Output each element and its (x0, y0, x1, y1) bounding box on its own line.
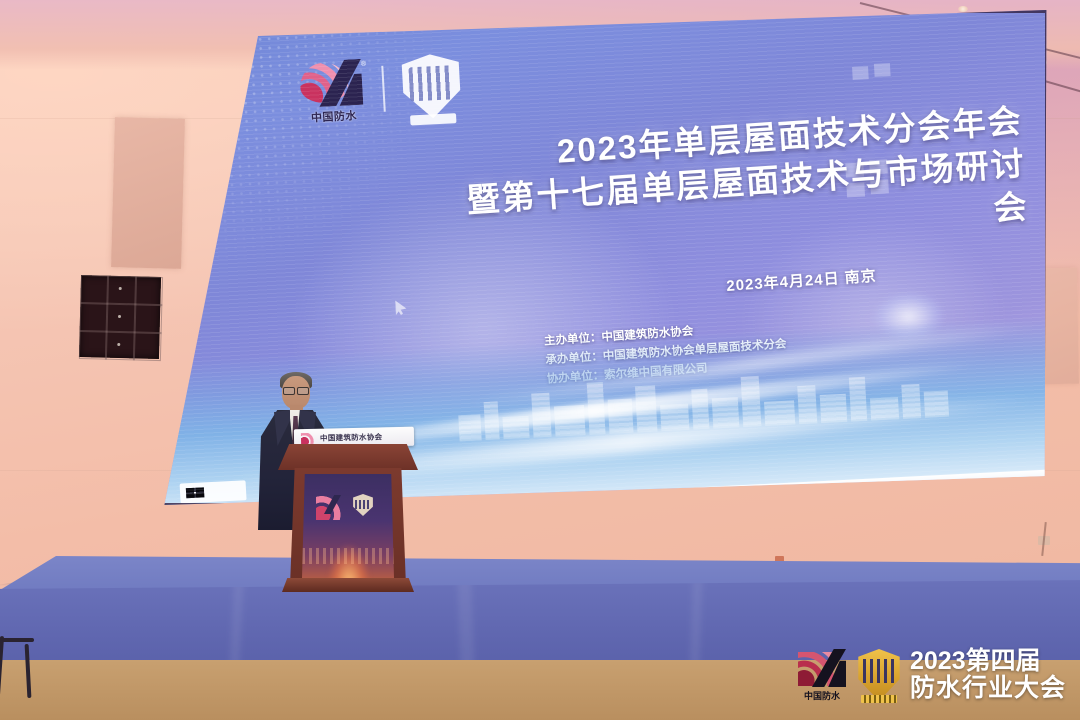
registered-mark: ® (361, 61, 367, 68)
podium-nameplate-logo-icon (301, 433, 314, 444)
wall-speaker-grille (79, 275, 161, 359)
logo-divider (381, 66, 385, 112)
badge-text-block: 2023第四届 防水行业大会 (910, 648, 1066, 702)
screen-logo-row: ® 中国防水 (297, 53, 464, 125)
podium-top-surface (278, 444, 418, 470)
glasses-icon (283, 387, 309, 393)
cwa-waterproof-logo-icon: ® 中国防水 (297, 59, 368, 124)
cwa-logo-caption: 中国防水 (300, 107, 369, 126)
podium-shield-logo-icon (350, 494, 376, 520)
podium-front-panel (302, 474, 394, 578)
shield-badge-logo-icon (399, 53, 464, 120)
screen-watermark-box (180, 480, 247, 503)
podium-panel-skyline-graphic (302, 548, 394, 564)
square-motif-2 (874, 63, 891, 77)
screen-watermark-mark (186, 487, 205, 498)
podium-cwa-logo-icon (316, 494, 342, 520)
event-watermark-badge: 中国防水 2023第四届 防水行业大会 (792, 646, 1070, 704)
badge-cwa-logo-icon: 中国防水 (796, 649, 848, 701)
square-motif-1 (852, 66, 869, 80)
podium-nameplate-text: 中国建筑防水协会 (320, 431, 383, 443)
podium-base (282, 578, 414, 592)
badge-line-1: 2023第四届 (910, 648, 1066, 675)
badge-logo-caption: 中国防水 (796, 689, 848, 702)
badge-line-2: 防水行业大会 (910, 675, 1066, 702)
badge-gold-shield-icon (856, 649, 902, 701)
speaking-podium: 中国建筑防水协会 (272, 428, 420, 598)
conference-photo-scene: ® 中国防水 2023年单层屋面技术分会年会 暨第十七届单层屋面技术与市场研讨会 (0, 0, 1080, 720)
folding-chair (0, 636, 54, 706)
